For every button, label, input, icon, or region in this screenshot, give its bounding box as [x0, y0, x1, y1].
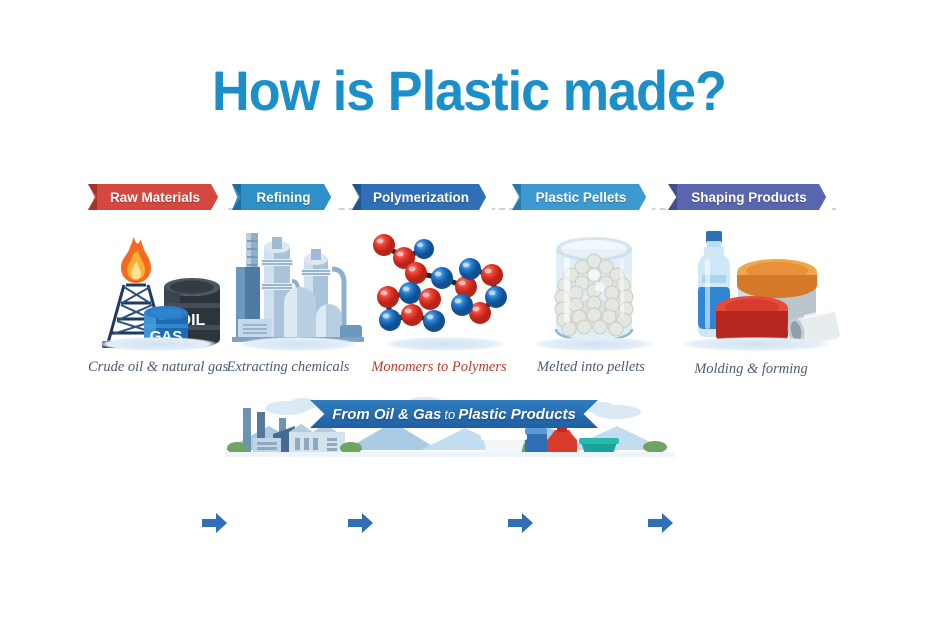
illustration-row: OIL GAS — [0, 225, 938, 355]
illustration-plastic-products — [672, 225, 840, 355]
refinery-tank-a — [284, 287, 316, 339]
ribbon-fold — [232, 184, 241, 210]
step-banner-shaping-products[interactable]: Shaping Products — [668, 184, 832, 210]
ground-shadow — [385, 337, 505, 351]
footer-banner-lead: From Oil & Gas — [332, 406, 441, 423]
ground-shadow — [681, 337, 831, 351]
step-caption-refining: Extracting chemicals — [218, 359, 358, 376]
step-banner-label: Refining — [251, 190, 319, 205]
ribbon-fold — [512, 184, 521, 210]
step-banner-refining[interactable]: Refining — [232, 184, 337, 210]
ground-shadow — [98, 337, 218, 351]
ribbon-notch — [479, 184, 492, 210]
ribbon-notch — [324, 184, 337, 210]
footer-banner-tail: Plastic Products — [458, 406, 576, 423]
footer-banner-connector: to — [441, 407, 458, 422]
arrow-right-icon — [508, 511, 534, 535]
arrow-right-icon — [202, 511, 228, 535]
step-caption-plastic-pellets: Melted into pellets — [520, 359, 662, 376]
ribbon-notch — [819, 184, 832, 210]
ground-shadow — [238, 337, 358, 351]
illustration-molecule-chain — [370, 225, 520, 355]
illustration-pellet-jar — [524, 225, 664, 355]
ribbon-fold — [668, 184, 677, 210]
ribbon-notch — [639, 184, 652, 210]
step-banner-polymerization[interactable]: Polymerization — [352, 184, 492, 210]
step-banner-plastic-pellets[interactable]: Plastic Pellets — [512, 184, 652, 210]
footer-scene: From Oil & Gas to Plastic Products — [225, 392, 675, 460]
molecule-atoms — [373, 234, 507, 332]
step-banner-label: Raw Materials — [104, 190, 208, 205]
step-banner-raw-materials[interactable]: Raw Materials — [88, 184, 224, 210]
step-caption-raw-materials: Crude oil & natural gas — [88, 359, 228, 376]
page-title: How is Plastic made? — [33, 58, 905, 123]
derrick-flame — [121, 237, 151, 283]
refinery-tank-b — [316, 304, 342, 339]
step-banner-label: Polymerization — [367, 190, 477, 205]
ribbon-notch — [211, 184, 224, 210]
step-caption-polymerization: Monomers to Polymers — [366, 359, 512, 376]
ribbon-fold — [88, 184, 97, 210]
step-banner-row: Raw Materials Refining Polymerization Pl… — [0, 184, 938, 212]
ground-shadow — [534, 337, 654, 351]
glass-reflection — [556, 249, 632, 341]
step-caption-shaping-products: Molding & forming — [680, 361, 822, 378]
illustration-oil-rig-barrels: OIL GAS — [88, 225, 228, 355]
red-lid-tub — [716, 296, 788, 341]
arrow-right-icon — [348, 511, 374, 535]
arrow-right-icon — [648, 511, 674, 535]
ribbon-fold — [352, 184, 361, 210]
footer-banner[interactable]: From Oil & Gas to Plastic Products — [310, 400, 598, 428]
illustration-refinery-plant — [228, 225, 368, 355]
step-banner-label: Plastic Pellets — [530, 190, 635, 205]
infographic-canvas: How is Plastic made? Raw Materials Refin… — [0, 0, 938, 624]
step-banner-label: Shaping Products — [685, 190, 815, 205]
